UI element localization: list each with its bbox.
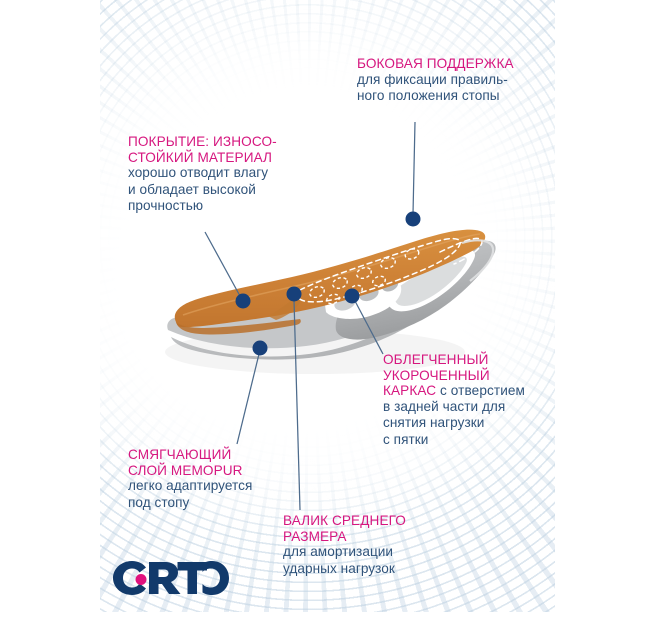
orto-logo bbox=[112, 558, 230, 598]
pointer-dot-cover bbox=[236, 294, 251, 309]
callout-lightweight-frame: ОБЛЕГЧЕННЫЙ УКОРОЧЕННЫЙ КАРКАС с отверст… bbox=[383, 352, 558, 448]
callout-lateral-support: БОКОВАЯ ПОДДЕРЖКА для фиксации правиль- … bbox=[357, 56, 542, 104]
infographic-canvas: БОКОВАЯ ПОДДЕРЖКА для фиксации правиль- … bbox=[0, 0, 652, 629]
callout-memopur-layer: СМЯГЧАЮЩИЙ СЛОЙ MEMOPUR легко адаптирует… bbox=[128, 447, 303, 511]
callout-body: для фиксации правиль- ного положения сто… bbox=[357, 72, 542, 105]
leader-line-lateral bbox=[413, 122, 415, 214]
orto-logo-pink-dot bbox=[136, 574, 147, 585]
callout-body: для амортизации ударных нагрузок bbox=[283, 544, 458, 577]
leader-line-cover bbox=[205, 232, 240, 296]
orto-logo-wordmark bbox=[113, 561, 229, 595]
callout-cover-material: ПОКРЫТИЕ: ИЗНОСО- СТОЙКИЙ МАТЕРИАЛ хорош… bbox=[128, 134, 308, 214]
callout-heading: ПОКРЫТИЕ: ИЗНОСО- СТОЙКИЙ МАТЕРИАЛ bbox=[128, 134, 308, 165]
pointer-dot-memopur bbox=[253, 341, 268, 356]
pointer-dot-roll bbox=[287, 287, 302, 302]
callout-heading: СМЯГЧАЮЩИЙ СЛОЙ MEMOPUR bbox=[128, 447, 303, 478]
leader-line-frame bbox=[355, 301, 383, 354]
callout-body: в задней части для снятия нагрузки с пят… bbox=[383, 399, 558, 448]
callout-medium-roll: ВАЛИК СРЕДНЕГО РАЗМЕРА для амортизации у… bbox=[283, 513, 458, 577]
pointer-dot-lateral bbox=[406, 212, 421, 227]
callout-heading: БОКОВАЯ ПОДДЕРЖКА bbox=[357, 56, 542, 72]
pointer-dot-frame bbox=[345, 289, 360, 304]
callout-heading: ВАЛИК СРЕДНЕГО РАЗМЕРА bbox=[283, 513, 458, 544]
callout-body: легко адаптируется под стопу bbox=[128, 478, 303, 511]
callout-heading: ОБЛЕГЧЕННЫЙ УКОРОЧЕННЫЙ КАРКАС с отверст… bbox=[383, 352, 558, 399]
leader-line-memopur bbox=[237, 354, 259, 444]
callout-body: хорошо отводит влагу и обладает высокой … bbox=[128, 165, 308, 214]
callout-heading-inline: с отверстием bbox=[436, 383, 525, 398]
